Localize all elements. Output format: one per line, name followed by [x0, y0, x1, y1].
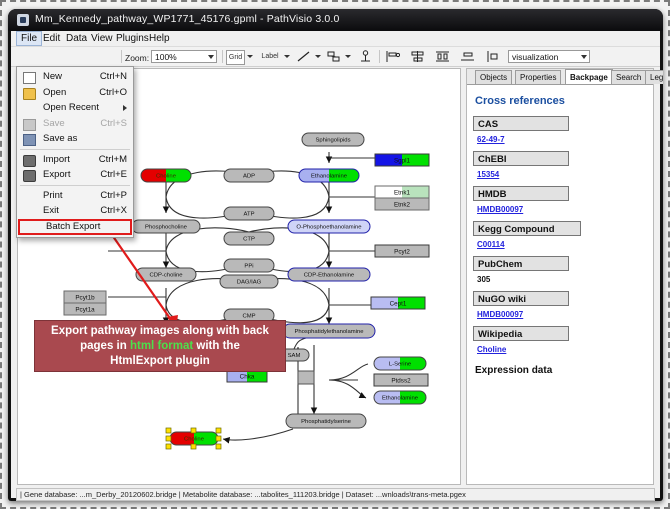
- tab-search[interactable]: Search: [611, 70, 646, 84]
- save-as-icon: [23, 134, 36, 146]
- svg-text:CTP: CTP: [243, 237, 255, 243]
- svg-text:ATP: ATP: [243, 212, 254, 218]
- svg-text:O-Phosphoethanolamine: O-Phosphoethanolamine: [296, 225, 362, 231]
- zoom-value: 100%: [155, 52, 177, 62]
- xref-value-nugo[interactable]: HMDB00097: [477, 310, 649, 319]
- svg-text:Ethanolamine: Ethanolamine: [382, 396, 419, 402]
- zoom-label: Zoom:: [125, 53, 149, 63]
- menu-divider: [20, 185, 130, 186]
- svg-text:Sphingolipids: Sphingolipids: [315, 138, 350, 144]
- xref-value-pubchem: 305: [477, 275, 649, 284]
- side-panel: Objects Properties Backpage Search Legen…: [466, 68, 654, 485]
- group-icon[interactable]: [486, 51, 500, 62]
- menu-item-save: Save Ctrl+S: [17, 116, 133, 132]
- align-left-icon[interactable]: [386, 51, 400, 62]
- selected-node-group: Choline: [166, 428, 221, 449]
- xref-value-hmdb[interactable]: HMDB00097: [477, 205, 649, 214]
- open-folder-icon: [23, 88, 36, 100]
- toolbar: Zoom: 100% Grid Label: [11, 47, 660, 67]
- menu-item-open-label: Open: [43, 87, 66, 98]
- chevron-down-icon: [581, 55, 587, 59]
- svg-text:Pcyt1a: Pcyt1a: [75, 306, 95, 313]
- menu-item-new[interactable]: New Ctrl+N: [17, 69, 133, 85]
- tab-legend[interactable]: Legend: [645, 70, 663, 84]
- svg-text:Phosphocholine: Phosphocholine: [145, 225, 188, 231]
- svg-text:Pcyt1b: Pcyt1b: [75, 294, 95, 301]
- align-center-icon[interactable]: [411, 51, 425, 62]
- window-titlebar: Mm_Kennedy_pathway_WP1771_45176.gpml - P…: [8, 9, 663, 31]
- tab-objects[interactable]: Objects: [475, 70, 512, 84]
- expression-data-heading: Expression data: [475, 365, 649, 376]
- xref-source-wikipedia: Wikipedia: [473, 326, 569, 341]
- menu-item-open-recent-label: Open Recent: [43, 102, 99, 113]
- shape-tool-icon[interactable]: [327, 51, 341, 63]
- xref-value-chebi[interactable]: 15354: [477, 170, 649, 179]
- svg-text:Phosphatidylethanolamine: Phosphatidylethanolamine: [294, 329, 364, 335]
- menu-item-import-label: Import: [43, 154, 70, 165]
- cross-references-heading: Cross references: [475, 95, 649, 107]
- xref-source-hmdb: HMDB: [473, 186, 569, 201]
- menu-item-export-label: Export: [43, 169, 70, 180]
- visualization-combobox[interactable]: visualization: [508, 50, 590, 63]
- svg-text:Phosphatidylserine: Phosphatidylserine: [301, 419, 351, 425]
- menu-divider: [20, 149, 130, 150]
- chevron-right-icon: [123, 105, 127, 111]
- xref-source-pubchem: PubChem: [473, 256, 569, 271]
- chevron-down-icon: [208, 55, 214, 59]
- menu-item-exit-accel: Ctrl+X: [100, 203, 127, 219]
- screenshot-root: Mm_Kennedy_pathway_WP1771_45176.gpml - P…: [0, 0, 670, 509]
- label-dropdown-arrow-icon[interactable]: [284, 55, 290, 58]
- tab-properties[interactable]: Properties: [515, 70, 561, 84]
- export-icon: [23, 170, 36, 182]
- menu-item-save-accel: Ctrl+S: [100, 116, 127, 132]
- svg-text:Ethanolamine: Ethanolamine: [311, 174, 348, 180]
- svg-text:Pcyt2: Pcyt2: [394, 248, 410, 255]
- import-icon: [23, 155, 36, 167]
- menu-item-export-accel: Ctrl+E: [100, 167, 127, 183]
- toolbar-separator: [379, 50, 380, 63]
- xref-source-chebi: ChEBI: [473, 151, 569, 166]
- statusbar: | Gene database: ...m_Derby_20120602.bri…: [16, 488, 655, 501]
- svg-text:Chka: Chka: [240, 373, 255, 380]
- tab-backpage[interactable]: Backpage: [565, 69, 613, 84]
- svg-text:Cept1: Cept1: [390, 300, 407, 307]
- svg-text:Sgpl1: Sgpl1: [394, 157, 411, 164]
- svg-text:DAG/IAG: DAG/IAG: [237, 280, 262, 286]
- menu-edit[interactable]: Edit: [39, 32, 64, 45]
- panel-tabstrip: Objects Properties Backpage Search Legen…: [467, 69, 653, 85]
- pathvisio-window: Mm_Kennedy_pathway_WP1771_45176.gpml - P…: [8, 9, 663, 501]
- visualization-value: visualization: [512, 52, 558, 62]
- callout-line-2-pre: pages in: [80, 340, 130, 352]
- svg-text:Choline: Choline: [156, 174, 177, 180]
- menu-item-export[interactable]: Export Ctrl+E: [17, 167, 133, 183]
- window-client-area: File Edit Data View Plugins Help Zoom: 1…: [11, 31, 660, 498]
- backpage-content: Cross references CAS 62-49-7 ChEBI 15354…: [473, 87, 649, 483]
- svg-text:ADP: ADP: [243, 174, 255, 180]
- svg-text:CDP-choline: CDP-choline: [149, 273, 183, 279]
- window-title: Mm_Kennedy_pathway_WP1771_45176.gpml - P…: [35, 13, 339, 25]
- menu-item-save-as-label: Save as: [43, 133, 77, 144]
- save-icon: [23, 119, 36, 131]
- zoom-combobox[interactable]: 100%: [151, 50, 217, 63]
- menu-help[interactable]: Help: [145, 32, 174, 45]
- callout-line-1: Export pathway images along with back: [51, 325, 269, 337]
- grid-button[interactable]: Grid: [226, 50, 245, 65]
- callout-line-2-post: with the: [193, 340, 240, 352]
- xref-value-wikipedia[interactable]: Choline: [477, 345, 649, 354]
- new-document-icon: [23, 72, 36, 84]
- svg-text:PPi: PPi: [244, 264, 253, 270]
- anchor-tool-icon[interactable]: [359, 50, 372, 63]
- xref-source-cas: CAS: [473, 116, 569, 131]
- xref-source-nugo: NuGO wiki: [473, 291, 569, 306]
- svg-text:Etnk2: Etnk2: [394, 201, 411, 208]
- stack-icon[interactable]: [461, 52, 475, 62]
- annotation-callout: Export pathway images along with back pa…: [34, 320, 286, 372]
- annotation-text: Export pathway images along with back pa…: [45, 324, 275, 369]
- menu-item-open[interactable]: Open Ctrl+O: [17, 85, 133, 101]
- svg-text:Ptdss2: Ptdss2: [391, 377, 411, 384]
- menu-item-save-as[interactable]: Save as: [17, 131, 133, 147]
- menu-item-batch-export-label: Batch Export: [46, 221, 100, 232]
- toolbar-separator: [121, 50, 122, 63]
- distribute-icon[interactable]: [436, 51, 450, 62]
- pathvisio-icon: [17, 14, 29, 26]
- line-dropdown-arrow-icon[interactable]: [315, 55, 321, 58]
- menubar: File Edit Data View Plugins Help: [11, 31, 660, 47]
- label-button[interactable]: Label: [259, 50, 281, 63]
- menu-item-import-accel: Ctrl+M: [99, 152, 127, 168]
- svg-text:Etnk1: Etnk1: [394, 189, 411, 196]
- menu-item-new-accel: Ctrl+N: [100, 69, 127, 85]
- svg-text:CMP: CMP: [242, 314, 255, 320]
- callout-line-3: HtmlExport plugin: [110, 355, 210, 367]
- xref-value-kegg[interactable]: C00114: [477, 240, 649, 249]
- menu-item-import[interactable]: Import Ctrl+M: [17, 152, 133, 168]
- xref-value-cas[interactable]: 62-49-7: [477, 135, 649, 144]
- toolbar-separator: [222, 50, 223, 63]
- menu-item-exit-label: Exit: [43, 205, 59, 216]
- menu-item-open-recent[interactable]: Open Recent: [17, 100, 133, 116]
- menu-item-exit[interactable]: Exit Ctrl+X: [17, 203, 133, 219]
- callout-line-2-highlight: html format: [130, 340, 193, 352]
- shape-dropdown-arrow-icon[interactable]: [345, 55, 351, 58]
- menu-item-new-label: New: [43, 71, 62, 82]
- xref-source-kegg: Kegg Compound: [473, 221, 581, 236]
- menu-item-print-accel: Ctrl+P: [100, 188, 127, 204]
- svg-text:SAM: SAM: [288, 353, 301, 359]
- svg-text:Choline: Choline: [184, 437, 205, 443]
- line-tool-icon[interactable]: [297, 51, 311, 63]
- menu-item-open-accel: Ctrl+O: [99, 85, 127, 101]
- menu-item-batch-export[interactable]: Batch Export: [18, 219, 132, 235]
- grid-dropdown-arrow-icon[interactable]: [247, 55, 253, 58]
- menu-item-print[interactable]: Print Ctrl+P: [17, 188, 133, 204]
- menu-item-print-label: Print: [43, 190, 63, 201]
- svg-text:CDP-Ethanolamine: CDP-Ethanolamine: [304, 273, 355, 279]
- svg-text:L-Serine: L-Serine: [389, 362, 412, 368]
- file-menu-dropdown: New Ctrl+N Open Ctrl+O Open Recent Save …: [16, 66, 134, 238]
- menu-item-save-label: Save: [43, 118, 65, 129]
